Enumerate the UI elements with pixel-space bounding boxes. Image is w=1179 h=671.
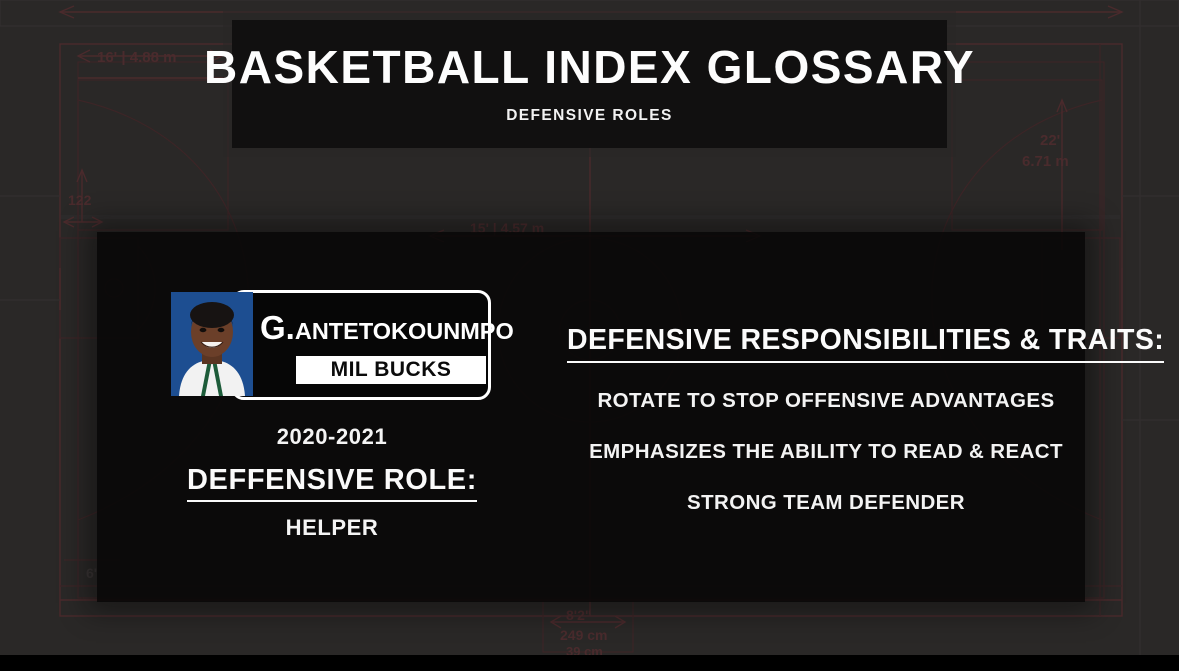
team-name: MIL BUCKS bbox=[331, 358, 452, 382]
trait-item: ROTATE TO STOP OFFENSIVE ADVANTAGES bbox=[567, 389, 1085, 413]
player-first-initial: G. bbox=[260, 309, 295, 347]
player-info-column: G. ANTETOKOUNMPO MIL BUCKS 2020-2021 DEF… bbox=[97, 232, 567, 602]
svg-text:6': 6' bbox=[86, 565, 97, 581]
traits-heading: DEFENSIVE RESPONSIBILITIES & TRAITS: bbox=[567, 324, 1164, 363]
title-banner: BASKETBALL INDEX GLOSSARY DEFENSIVE ROLE… bbox=[232, 20, 947, 148]
svg-text:8'2": 8'2" bbox=[566, 607, 592, 623]
season-label: 2020-2021 bbox=[97, 424, 567, 450]
svg-text:6.71 m: 6.71 m bbox=[1022, 153, 1069, 170]
letterbox-bar-bottom bbox=[0, 655, 1179, 671]
player-card: G. ANTETOKOUNMPO MIL BUCKS bbox=[171, 290, 491, 400]
content-panel: G. ANTETOKOUNMPO MIL BUCKS 2020-2021 DEF… bbox=[97, 232, 1085, 602]
defensive-role-value: HELPER bbox=[97, 515, 567, 541]
page-subtitle: DEFENSIVE ROLES bbox=[506, 107, 673, 125]
player-nameplate: G. ANTETOKOUNMPO MIL BUCKS bbox=[231, 290, 491, 400]
svg-text:122: 122 bbox=[68, 192, 92, 208]
player-headshot bbox=[171, 292, 253, 396]
page-title: BASKETBALL INDEX GLOSSARY bbox=[204, 43, 975, 91]
svg-text:22': 22' bbox=[1040, 132, 1060, 149]
trait-item: STRONG TEAM DEFENDER bbox=[567, 491, 1085, 515]
traits-list: ROTATE TO STOP OFFENSIVE ADVANTAGES EMPH… bbox=[567, 389, 1085, 542]
player-name: G. ANTETOKOUNMPO bbox=[260, 309, 488, 347]
trait-item: EMPHASIZES THE ABILITY TO READ & REACT bbox=[567, 440, 1085, 464]
player-last-name: ANTETOKOUNMPO bbox=[295, 318, 514, 345]
team-band: MIL BUCKS bbox=[296, 356, 486, 384]
slide-canvas: 16' | 4.88 m 122 bbox=[0, 0, 1179, 671]
traits-heading-wrap: DEFENSIVE RESPONSIBILITIES & TRAITS: bbox=[567, 324, 1085, 363]
defensive-role-heading: DEFFENSIVE ROLE: bbox=[187, 464, 477, 502]
traits-column: DEFENSIVE RESPONSIBILITIES & TRAITS: ROT… bbox=[567, 232, 1085, 602]
svg-text:16' | 4.88 m: 16' | 4.88 m bbox=[97, 49, 176, 66]
defensive-role-heading-wrap: DEFFENSIVE ROLE: bbox=[97, 464, 567, 502]
svg-text:249 cm: 249 cm bbox=[560, 627, 607, 643]
